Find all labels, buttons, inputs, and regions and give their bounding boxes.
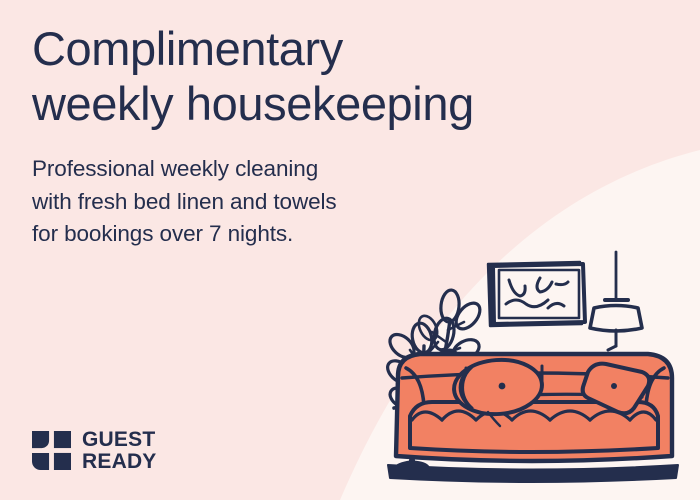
copy-block: Complimentary weekly housekeeping Profes… [32, 22, 592, 251]
framed-wall-art-icon [488, 262, 585, 326]
guestready-logo-icon [32, 431, 71, 470]
logo-line-2: READY [82, 451, 157, 472]
promo-card: Complimentary weekly housekeeping Profes… [0, 0, 700, 500]
logo-wordmark: GUEST READY [82, 429, 157, 472]
brand-logo: GUEST READY [32, 429, 157, 472]
pendant-lamp-icon [590, 252, 642, 350]
living-room-illustration [380, 250, 700, 500]
description-text: Professional weekly cleaning with fresh … [32, 153, 592, 251]
logo-line-1: GUEST [82, 429, 157, 450]
page-title: Complimentary weekly housekeeping [32, 22, 592, 131]
